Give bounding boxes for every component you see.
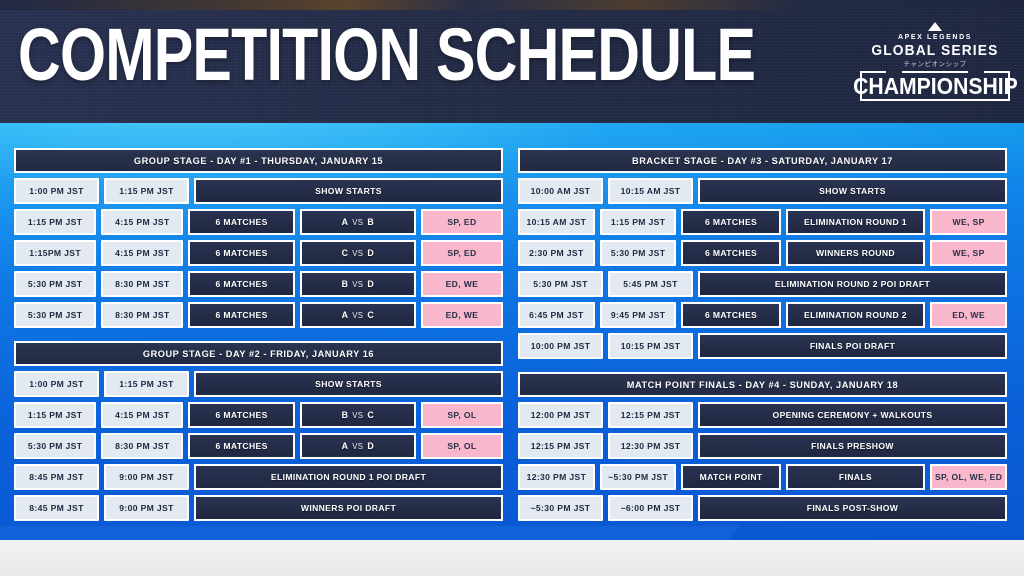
schedule-section-group-stage-day-2: GROUP STAGE - DAY #2 - FRIDAY, JANUARY 1… (14, 341, 503, 521)
event-label-cell: WINNERS POI DRAFT (194, 495, 503, 521)
matchup-group-a: B (342, 410, 349, 420)
table-row: 10:00 AM JST10:15 AM JSTSHOW STARTS (518, 178, 1007, 204)
end-time-cell: 12:30 PM JST (608, 433, 693, 459)
end-time-cell: 4:15 PM JST (101, 209, 183, 235)
caster-codes-cell: ED, WE (421, 271, 503, 297)
start-time-cell: 10:15 AM JST (518, 209, 595, 235)
end-time-cell: 8:30 PM JST (101, 433, 183, 459)
matchup-group-b: D (367, 441, 374, 451)
matchup-group-b: D (367, 248, 374, 258)
event-label-cell: ELIMINATION ROUND 2 POI DRAFT (698, 271, 1007, 297)
end-time-cell: 10:15 AM JST (608, 178, 693, 204)
start-time-cell: 8:45 PM JST (14, 464, 99, 490)
competition-schedule-page: COMPETITION SCHEDULE APEX LEGENDS GLOBAL… (0, 0, 1024, 576)
caster-codes-cell: SP, OL, WE, ED (930, 464, 1007, 490)
start-time-cell: 10:00 PM JST (518, 333, 603, 359)
end-time-cell: ~6:00 PM JST (608, 495, 693, 521)
matches-count-cell: 6 MATCHES (188, 402, 294, 428)
matches-count-cell: 6 MATCHES (681, 240, 780, 266)
section-title: BRACKET STAGE - DAY #3 - SATURDAY, JANUA… (518, 148, 1007, 173)
event-label-cell: FINALS POI DRAFT (698, 333, 1007, 359)
event-label-cell: FINALS PRESHOW (698, 433, 1007, 459)
table-row: 5:30 PM JST8:30 PM JST6 MATCHESBVSDED, W… (14, 271, 503, 297)
matchup-vs-label: VS (352, 249, 363, 258)
section-title: GROUP STAGE - DAY #2 - FRIDAY, JANUARY 1… (14, 341, 503, 366)
schedule-section-match-point-finals-day-4: MATCH POINT FINALS - DAY #4 - SUNDAY, JA… (518, 372, 1007, 521)
matchup-vs-label: VS (352, 411, 363, 420)
end-time-cell: 12:15 PM JST (608, 402, 693, 428)
matchup-group-b: C (367, 410, 374, 420)
matchup-cell: AVSD (300, 433, 416, 459)
start-time-cell: 5:30 PM JST (14, 302, 96, 328)
page-header: COMPETITION SCHEDULE APEX LEGENDS GLOBAL… (0, 0, 1024, 123)
schedule-section-group-stage-day-1: GROUP STAGE - DAY #1 - THURSDAY, JANUARY… (14, 148, 503, 328)
table-row: 1:00 PM JST1:15 PM JSTSHOW STARTS (14, 371, 503, 397)
event-label-cell: SHOW STARTS (698, 178, 1007, 204)
round-name-cell: WINNERS ROUND (786, 240, 926, 266)
round-name-cell: ELIMINATION ROUND 2 (786, 302, 926, 328)
table-row: 10:15 AM JST1:15 PM JST6 MATCHESELIMINAT… (518, 209, 1007, 235)
event-label-cell: SHOW STARTS (194, 371, 503, 397)
matchup-cell: AVSB (300, 209, 416, 235)
table-row: 5:30 PM JST5:45 PM JSTELIMINATION ROUND … (518, 271, 1007, 297)
matches-count-cell: 6 MATCHES (681, 209, 780, 235)
start-time-cell: ~5:30 PM JST (518, 495, 603, 521)
schedule-section-bracket-stage-day-3: BRACKET STAGE - DAY #3 - SATURDAY, JANUA… (518, 148, 1007, 359)
matchup-group-a: A (342, 217, 349, 227)
table-row: 8:45 PM JST9:00 PM JSTELIMINATION ROUND … (14, 464, 503, 490)
logo-apex-legends-text: APEX LEGENDS (898, 34, 972, 42)
logo-championship-text: CHAMPIONSHIP (853, 74, 1018, 98)
matchup-cell: AVSC (300, 302, 416, 328)
caster-codes-cell: WE, SP (930, 209, 1007, 235)
table-row: 5:30 PM JST8:30 PM JST6 MATCHESAVSDSP, O… (14, 433, 503, 459)
caster-codes-cell: SP, OL (421, 433, 503, 459)
matchup-group-b: B (367, 217, 374, 227)
start-time-cell: 5:30 PM JST (518, 271, 603, 297)
table-row: 6:45 PM JST9:45 PM JST6 MATCHESELIMINATI… (518, 302, 1007, 328)
start-time-cell: 1:15 PM JST (14, 402, 96, 428)
matchup-group-a: A (342, 441, 349, 451)
matches-count-cell: 6 MATCHES (188, 271, 294, 297)
section-title: GROUP STAGE - DAY #1 - THURSDAY, JANUARY… (14, 148, 503, 173)
matchup-vs-label: VS (352, 311, 363, 320)
algs-championship-logo: APEX LEGENDS GLOBAL SERIES チャンピオンシップ CHA… (860, 22, 1010, 104)
end-time-cell: 10:15 PM JST (608, 333, 693, 359)
matches-count-cell: 6 MATCHES (188, 209, 294, 235)
round-name-cell: FINALS (786, 464, 926, 490)
caster-codes-cell: SP, ED (421, 240, 503, 266)
end-time-cell: 8:30 PM JST (101, 302, 183, 328)
end-time-cell: 5:30 PM JST (600, 240, 677, 266)
matchup-cell: CVSD (300, 240, 416, 266)
table-row: 12:15 PM JST12:30 PM JSTFINALS PRESHOW (518, 433, 1007, 459)
end-time-cell: 9:45 PM JST (600, 302, 677, 328)
logo-japanese-text: チャンピオンシップ (904, 61, 967, 69)
table-row: 2:30 PM JST5:30 PM JST6 MATCHESWINNERS R… (518, 240, 1007, 266)
matchup-group-a: A (342, 310, 349, 320)
matchup-group-b: D (367, 279, 374, 289)
logo-championship-frame: CHAMPIONSHIP (860, 71, 1010, 101)
apex-triangle-icon (928, 22, 942, 31)
matchup-cell: BVSD (300, 271, 416, 297)
caster-codes-cell: SP, OL (421, 402, 503, 428)
table-row: 5:30 PM JST8:30 PM JST6 MATCHESAVSCED, W… (14, 302, 503, 328)
table-row: 8:45 PM JST9:00 PM JSTWINNERS POI DRAFT (14, 495, 503, 521)
table-row: 1:15PM JST4:15 PM JST6 MATCHESCVSDSP, ED (14, 240, 503, 266)
table-row: 1:00 PM JST1:15 PM JSTSHOW STARTS (14, 178, 503, 204)
start-time-cell: 6:45 PM JST (518, 302, 595, 328)
round-name-cell: ELIMINATION ROUND 1 (786, 209, 926, 235)
end-time-cell: 4:15 PM JST (101, 402, 183, 428)
start-time-cell: 10:00 AM JST (518, 178, 603, 204)
schedule-column-right: BRACKET STAGE - DAY #3 - SATURDAY, JANUA… (518, 148, 1007, 534)
start-time-cell: 1:15 PM JST (14, 209, 96, 235)
start-time-cell: 5:30 PM JST (14, 271, 96, 297)
start-time-cell: 2:30 PM JST (518, 240, 595, 266)
end-time-cell: 4:15 PM JST (101, 240, 183, 266)
end-time-cell: 1:15 PM JST (600, 209, 677, 235)
matches-count-cell: 6 MATCHES (188, 240, 294, 266)
table-row: 1:15 PM JST4:15 PM JST6 MATCHESAVSBSP, E… (14, 209, 503, 235)
event-label-cell: SHOW STARTS (194, 178, 503, 204)
matchup-vs-label: VS (352, 280, 363, 289)
end-time-cell: 8:30 PM JST (101, 271, 183, 297)
matches-count-cell: 6 MATCHES (188, 433, 294, 459)
page-footer: › › › ALGS COMPETITION SCHEDULE (0, 540, 1024, 576)
end-time-cell: 5:45 PM JST (608, 271, 693, 297)
start-time-cell: 12:30 PM JST (518, 464, 595, 490)
table-row: 10:00 PM JST10:15 PM JSTFINALS POI DRAFT (518, 333, 1007, 359)
start-time-cell: 12:00 PM JST (518, 402, 603, 428)
start-time-cell: 1:00 PM JST (14, 178, 99, 204)
page-title: COMPETITION SCHEDULE (18, 12, 755, 98)
matches-count-cell: 6 MATCHES (681, 302, 780, 328)
schedule-column-left: GROUP STAGE - DAY #1 - THURSDAY, JANUARY… (14, 148, 503, 534)
matchup-vs-label: VS (352, 218, 363, 227)
caster-codes-cell: ED, WE (421, 302, 503, 328)
start-time-cell: 1:15PM JST (14, 240, 96, 266)
table-row: 12:30 PM JST~5:30 PM JSTMATCH POINTFINAL… (518, 464, 1007, 490)
matchup-cell: BVSC (300, 402, 416, 428)
end-time-cell: 1:15 PM JST (104, 371, 189, 397)
section-title: MATCH POINT FINALS - DAY #4 - SUNDAY, JA… (518, 372, 1007, 397)
matches-count-cell: MATCH POINT (681, 464, 780, 490)
start-time-cell: 1:00 PM JST (14, 371, 99, 397)
end-time-cell: 9:00 PM JST (104, 495, 189, 521)
start-time-cell: 5:30 PM JST (14, 433, 96, 459)
matches-count-cell: 6 MATCHES (188, 302, 294, 328)
caster-codes-cell: WE, SP (930, 240, 1007, 266)
matchup-group-a: C (342, 248, 349, 258)
caster-codes-cell: ED, WE (930, 302, 1007, 328)
matchup-vs-label: VS (352, 442, 363, 451)
matchup-group-b: C (367, 310, 374, 320)
event-label-cell: FINALS POST-SHOW (698, 495, 1007, 521)
start-time-cell: 8:45 PM JST (14, 495, 99, 521)
logo-global-series-text: GLOBAL SERIES (871, 43, 998, 59)
table-row: ~5:30 PM JST~6:00 PM JSTFINALS POST-SHOW (518, 495, 1007, 521)
start-time-cell: 12:15 PM JST (518, 433, 603, 459)
caster-codes-cell: SP, ED (421, 209, 503, 235)
event-label-cell: ELIMINATION ROUND 1 POI DRAFT (194, 464, 503, 490)
end-time-cell: 1:15 PM JST (104, 178, 189, 204)
end-time-cell: 9:00 PM JST (104, 464, 189, 490)
table-row: 12:00 PM JST12:15 PM JSTOPENING CEREMONY… (518, 402, 1007, 428)
event-label-cell: OPENING CEREMONY + WALKOUTS (698, 402, 1007, 428)
table-row: 1:15 PM JST4:15 PM JST6 MATCHESBVSCSP, O… (14, 402, 503, 428)
end-time-cell: ~5:30 PM JST (600, 464, 677, 490)
matchup-group-a: B (342, 279, 349, 289)
